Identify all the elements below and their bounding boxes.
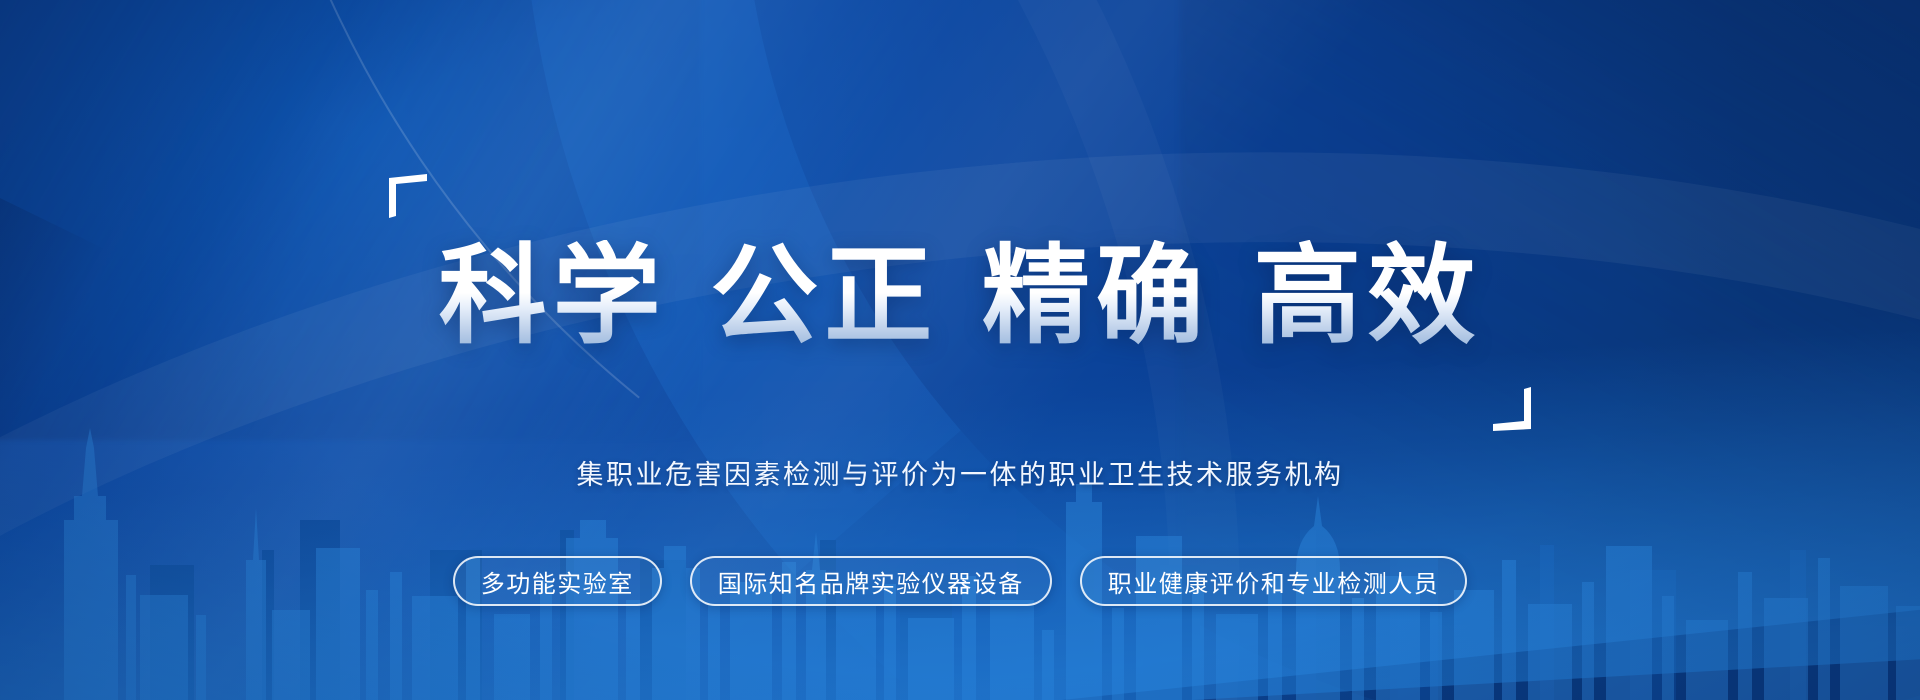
quote-bracket-open-icon — [387, 172, 429, 218]
feature-pill-staff[interactable]: 职业健康评价和专业检测人员 — [1080, 556, 1468, 606]
page-subtitle: 集职业危害因素检测与评价为一体的职业卫生技术服务机构 — [577, 453, 1344, 492]
feature-pill-list: 多功能实验室 国际知名品牌实验仪器设备 职业健康评价和专业检测人员 — [453, 556, 1468, 606]
feature-pill-equipment[interactable]: 国际知名品牌实验仪器设备 — [690, 556, 1052, 606]
hero-banner: 科学 公正 精确 高效 集职业危害因素检测与评价为一体的职业卫生技术服务机构 多… — [0, 0, 1920, 700]
banner-content: 科学 公正 精确 高效 集职业危害因素检测与评价为一体的职业卫生技术服务机构 多… — [0, 0, 1920, 700]
headline-group: 科学 公正 精确 高效 — [439, 168, 1482, 427]
quote-bracket-close-icon — [1491, 387, 1533, 433]
feature-pill-lab[interactable]: 多功能实验室 — [453, 556, 662, 606]
page-title: 科学 公正 精确 高效 — [439, 240, 1482, 354]
